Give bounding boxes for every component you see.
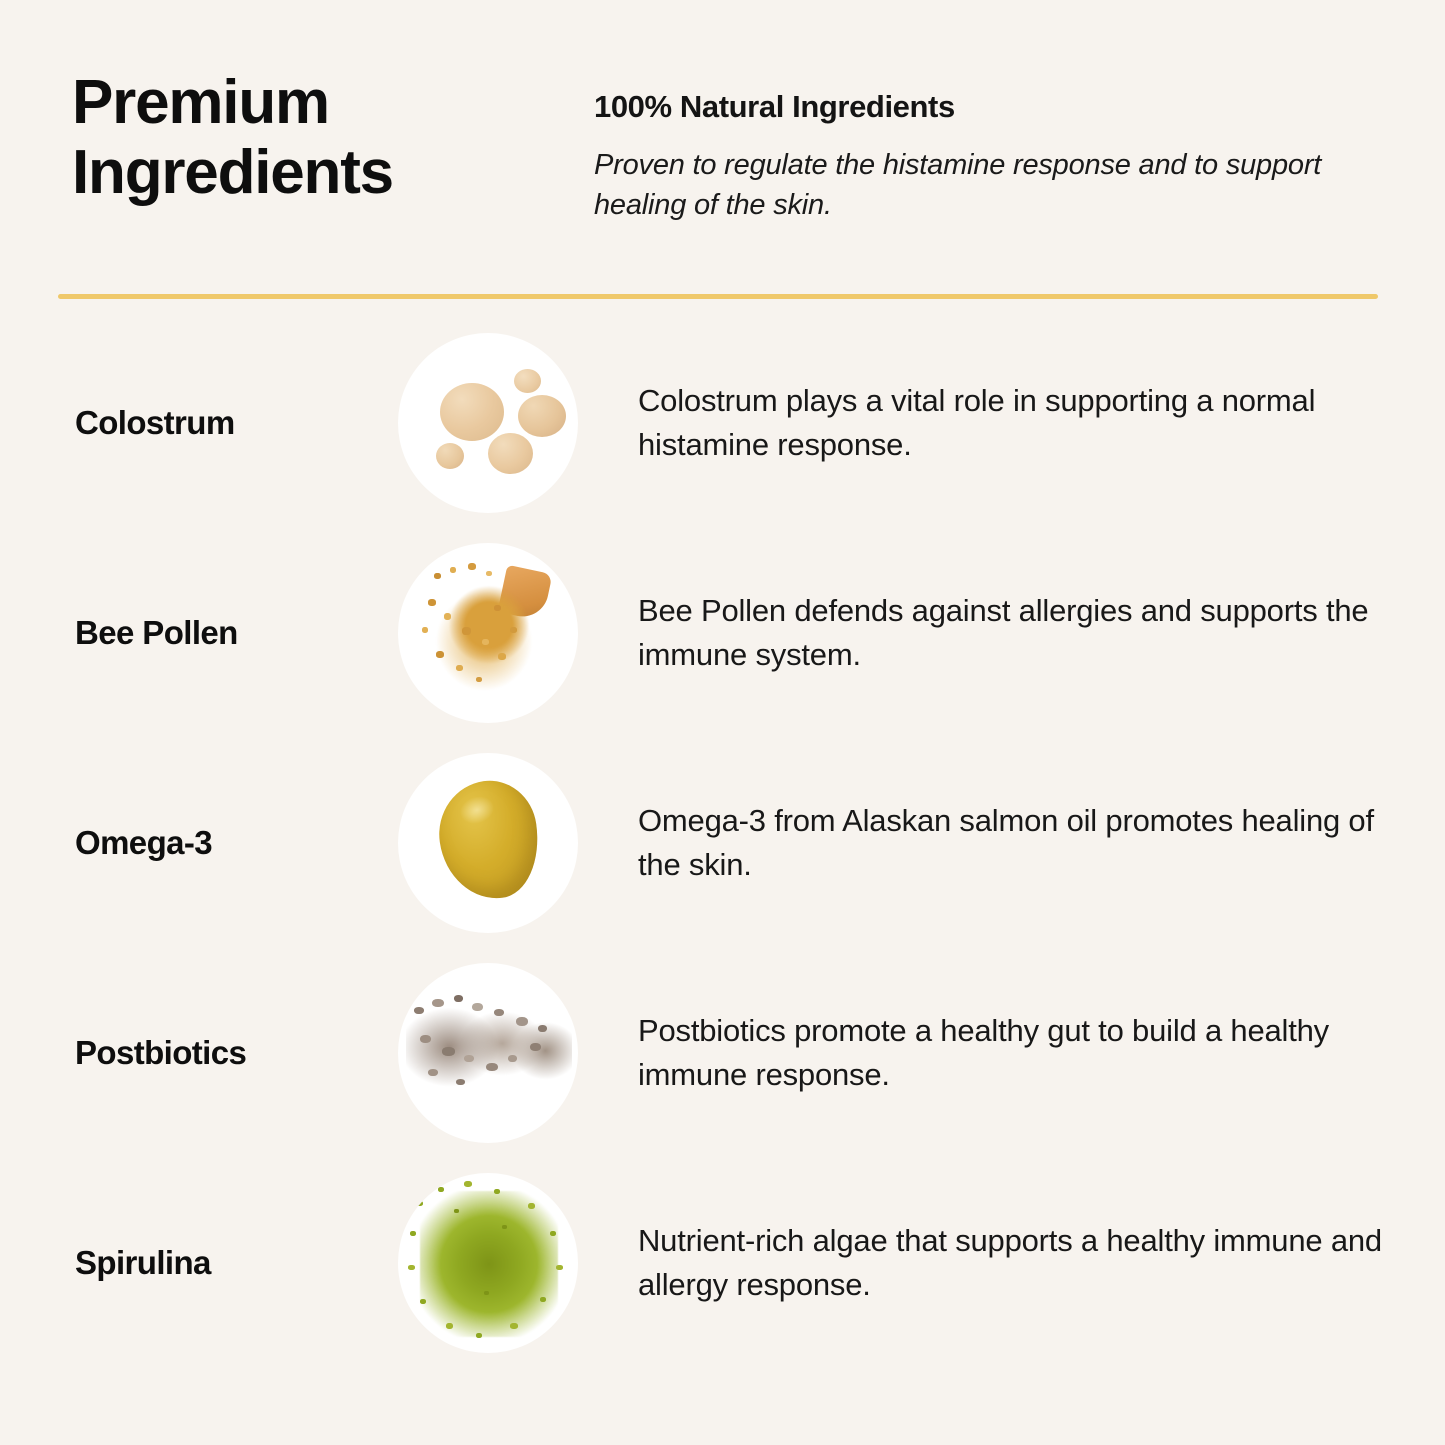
ingredient-name: Postbiotics	[75, 1034, 375, 1072]
ingredient-image-wrap	[398, 543, 578, 723]
ingredient-image-wrap	[398, 333, 578, 513]
ingredient-row: Spirulina	[0, 1158, 1445, 1368]
image-circle-backdrop	[398, 543, 578, 723]
ingredient-name: Spirulina	[75, 1244, 375, 1282]
postbiotics-powder-icon	[398, 963, 578, 1143]
ingredient-image-wrap	[398, 1173, 578, 1353]
image-circle-backdrop	[398, 753, 578, 933]
image-circle-backdrop	[398, 963, 578, 1143]
ingredient-name: Colostrum	[75, 404, 375, 442]
header-copy-block: 100% Natural Ingredients Proven to regul…	[594, 88, 1394, 225]
ingredient-description: Bee Pollen defends against allergies and…	[638, 589, 1398, 677]
header-divider	[58, 294, 1378, 299]
ingredient-row: Bee Pollen	[0, 528, 1445, 738]
image-circle-backdrop	[398, 333, 578, 513]
ingredient-row: Colostrum Colostrum plays a vital role i…	[0, 318, 1445, 528]
ingredient-description: Postbiotics promote a healthy gut to bui…	[638, 1009, 1398, 1097]
ingredient-name: Omega-3	[75, 824, 375, 862]
ingredient-image-wrap	[398, 963, 578, 1143]
header-subcopy: Proven to regulate the histamine respons…	[594, 145, 1394, 225]
omega3-oil-droplet-icon	[398, 753, 578, 933]
colostrum-droplets-icon	[398, 333, 578, 513]
header-kicker: 100% Natural Ingredients	[594, 88, 1394, 125]
header: Premium Ingredients 100% Natural Ingredi…	[0, 0, 1445, 300]
ingredient-name: Bee Pollen	[75, 614, 375, 652]
ingredient-description: Omega-3 from Alaskan salmon oil promotes…	[638, 799, 1398, 887]
ingredient-row: Postbiotics	[0, 948, 1445, 1158]
ingredient-description: Colostrum plays a vital role in supporti…	[638, 379, 1398, 467]
image-circle-backdrop	[398, 1173, 578, 1353]
ingredient-image-wrap	[398, 753, 578, 933]
ingredient-list: Colostrum Colostrum plays a vital role i…	[0, 318, 1445, 1368]
page-title: Premium Ingredients	[72, 68, 542, 208]
ingredient-description: Nutrient-rich algae that supports a heal…	[638, 1219, 1398, 1307]
bee-pollen-granules-icon	[398, 543, 578, 723]
spirulina-powder-icon	[398, 1173, 578, 1353]
ingredient-row: Omega-3 Omega-3 from Alaskan salmon oil …	[0, 738, 1445, 948]
ingredients-infographic: Premium Ingredients 100% Natural Ingredi…	[0, 0, 1445, 1445]
